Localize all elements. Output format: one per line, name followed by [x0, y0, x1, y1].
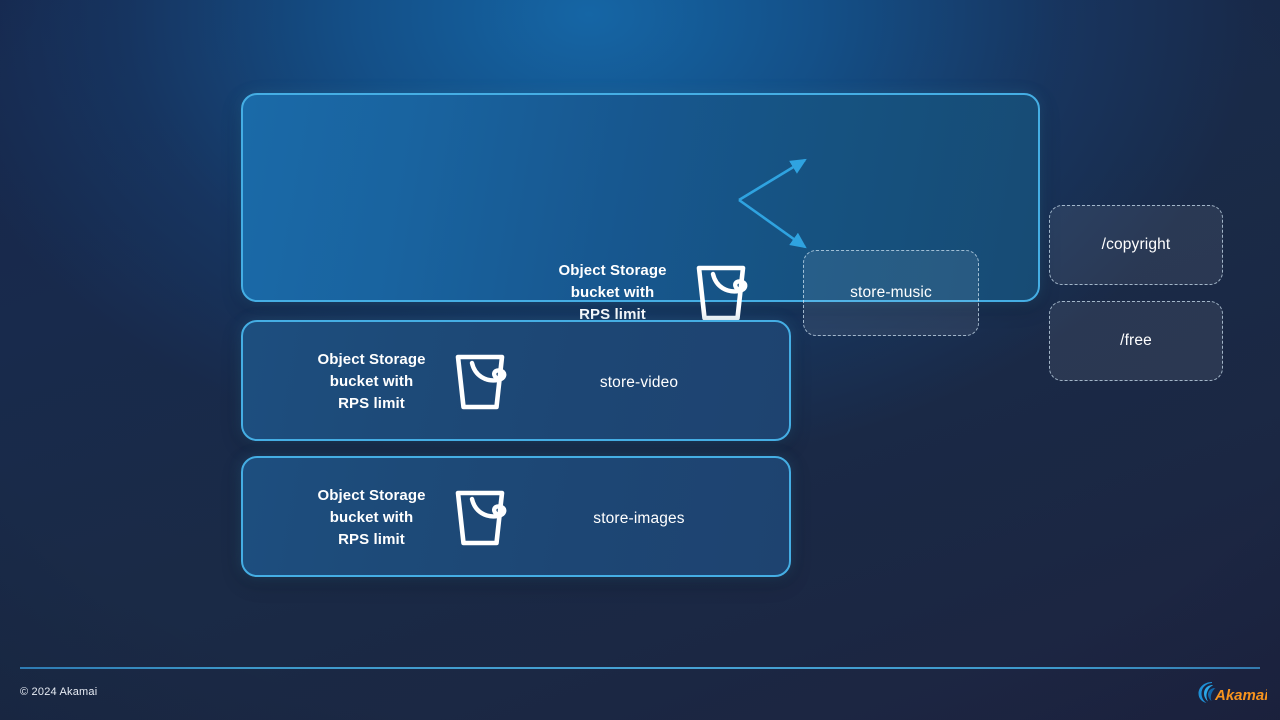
arrow-to-copyright	[739, 160, 805, 200]
card-label-store-images: Object Storage bucket with RPS limit	[308, 485, 435, 551]
path-label-free: /free	[1120, 332, 1152, 350]
akamai-swirl-icon	[1199, 682, 1216, 703]
card-label-line-3: RPS limit	[308, 393, 435, 415]
bucket-name-store-images: store-images	[551, 510, 727, 528]
card-label-store-video: Object Storage bucket with RPS limit	[308, 349, 435, 415]
footer-divider	[20, 667, 1260, 669]
card-label-line-2: bucket with	[308, 507, 435, 529]
footer-copyright: © 2024 Akamai	[20, 686, 97, 698]
card-label-line-3: RPS limit	[308, 529, 435, 551]
path-label-copyright: /copyright	[1102, 236, 1171, 254]
slide-canvas: Object Storage bucket with RPS limit sto…	[0, 0, 1280, 720]
card-label-line-1: Object Storage	[308, 485, 435, 507]
card-store-music[interactable]: Object Storage bucket with RPS limit sto…	[241, 93, 1040, 302]
path-box-free[interactable]: /free	[1049, 301, 1223, 381]
arrow-to-free	[739, 200, 805, 247]
akamai-logo: Akamai	[1197, 679, 1267, 705]
bucket-name-store-video: store-video	[551, 374, 727, 392]
path-box-copyright[interactable]: /copyright	[1049, 205, 1223, 285]
bucket-icon	[454, 485, 512, 549]
card-store-video[interactable]: Object Storage bucket with RPS limit sto…	[241, 320, 791, 441]
card-label-line-2: bucket with	[308, 371, 435, 393]
branch-arrows	[243, 95, 1042, 304]
akamai-wordmark: Akamai	[1214, 687, 1267, 704]
bucket-icon	[454, 349, 512, 413]
card-label-line-1: Object Storage	[308, 349, 435, 371]
card-store-images[interactable]: Object Storage bucket with RPS limit sto…	[241, 456, 791, 577]
